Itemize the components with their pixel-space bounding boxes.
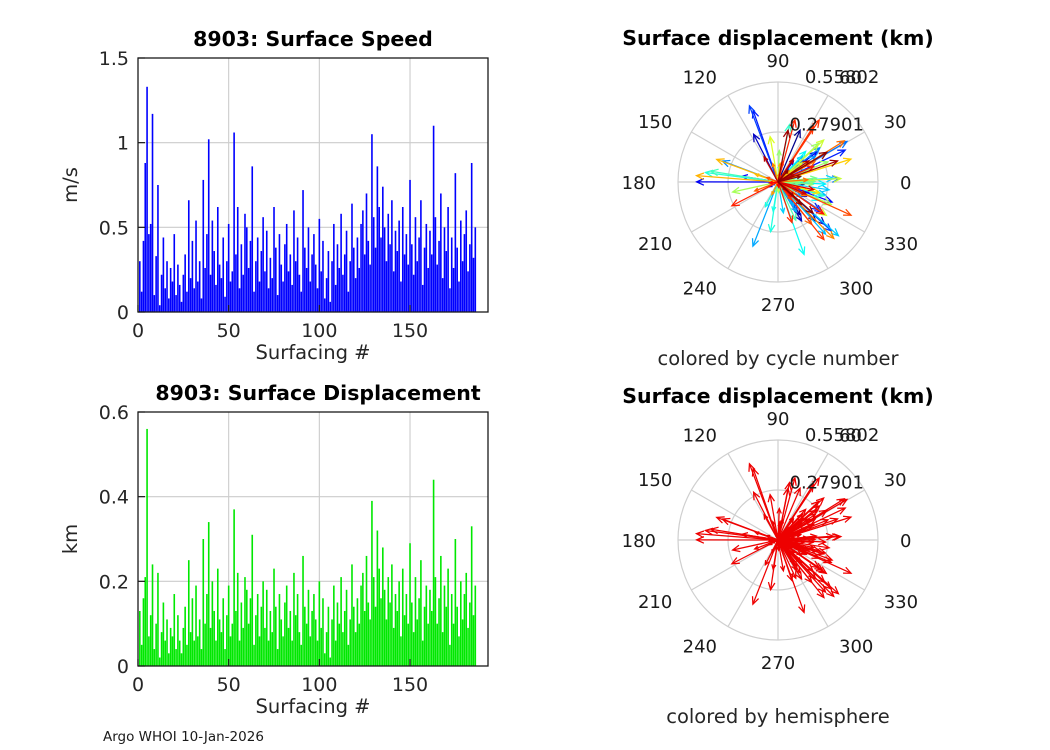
disp-xtick-labels: 050100150: [132, 674, 428, 696]
bar: [222, 598, 224, 666]
bar: [251, 166, 253, 312]
polar-theta-label: 90: [767, 51, 790, 72]
bar: [177, 265, 179, 312]
disp-bars: [139, 429, 476, 666]
polar-theta-label: 30: [884, 470, 907, 491]
bar: [146, 429, 148, 666]
bar: [440, 193, 442, 312]
polar-theta-label: 270: [761, 295, 795, 316]
bar: [175, 649, 177, 666]
bar: [184, 254, 186, 312]
bar: [449, 288, 451, 312]
bar: [291, 285, 293, 312]
bar: [398, 221, 400, 312]
bar: [351, 564, 353, 666]
bar: [340, 214, 342, 312]
bar: [270, 258, 272, 312]
bar: [311, 611, 313, 666]
bar: [391, 564, 393, 666]
bar: [416, 261, 418, 312]
bar: [172, 282, 174, 312]
bar: [311, 254, 313, 312]
polar-hemi-r-labels: 0.279010.55802: [790, 425, 880, 494]
bar: [248, 268, 250, 312]
bar: [422, 285, 424, 312]
bar: [438, 598, 440, 666]
polar-theta-label: 180: [622, 173, 656, 194]
bar: [277, 295, 279, 312]
bar: [315, 265, 317, 312]
bar: [219, 619, 221, 666]
bar: [429, 231, 431, 312]
figure-canvas: 8903: Surface Speed 00.511.5 050100150 S…: [0, 0, 1050, 750]
bar: [222, 237, 224, 312]
bar: [202, 180, 204, 312]
bar: [346, 590, 348, 666]
bar: [420, 200, 422, 312]
polar-cycle-caption: colored by cycle number: [658, 347, 900, 370]
bar: [201, 649, 203, 666]
bar: [331, 261, 333, 312]
bar: [398, 581, 400, 666]
bar: [431, 254, 433, 312]
bar: [175, 295, 177, 312]
polar-theta-label: 0: [900, 173, 911, 194]
panel-title-displacement: 8903: Surface Displacement: [155, 381, 480, 405]
bar: [304, 248, 306, 312]
bar: [455, 173, 457, 312]
bar: [380, 598, 382, 666]
polar-theta-label: 330: [884, 592, 918, 613]
bar: [170, 268, 172, 312]
bar: [257, 594, 259, 666]
figure-footer: Argo WHOI 10-Jan-2026: [103, 729, 264, 745]
bar: [199, 619, 201, 666]
bar: [371, 501, 373, 666]
bar: [155, 256, 157, 312]
bar: [273, 207, 275, 312]
bar: [212, 581, 214, 666]
bar: [384, 227, 386, 312]
bar: [284, 244, 286, 312]
bar: [360, 224, 362, 312]
bar: [317, 288, 319, 312]
bar: [440, 556, 442, 666]
bar: [366, 556, 368, 666]
bar: [290, 611, 292, 666]
bar: [208, 139, 210, 312]
bar: [373, 217, 375, 312]
bar: [427, 268, 429, 312]
bar: [251, 535, 253, 666]
bar: [377, 166, 379, 312]
bar: [344, 254, 346, 312]
bar: [255, 261, 257, 312]
bar: [273, 569, 275, 666]
bar: [337, 603, 339, 667]
bar: [280, 265, 282, 312]
bar: [358, 268, 360, 312]
bar: [306, 268, 308, 312]
speed-bars: [139, 87, 476, 312]
bar: [295, 261, 297, 312]
bar: [319, 581, 321, 666]
bar: [406, 234, 408, 312]
bar: [166, 261, 168, 312]
polar-theta-label: 240: [683, 637, 717, 658]
bar: [183, 628, 185, 666]
bar: [389, 244, 391, 312]
bar: [250, 598, 252, 666]
x-tick-label: 150: [392, 674, 428, 696]
bar: [193, 641, 195, 666]
bar: [215, 285, 217, 312]
bar: [195, 586, 197, 666]
bar: [465, 573, 467, 666]
bar: [197, 636, 199, 666]
bar: [315, 619, 317, 666]
bar: [469, 244, 471, 312]
bar: [451, 594, 453, 666]
bar: [279, 594, 281, 666]
bar: [148, 636, 150, 666]
bar: [436, 624, 438, 666]
bar: [322, 241, 324, 312]
bar: [424, 248, 426, 312]
bar: [391, 200, 393, 312]
bar: [429, 590, 431, 666]
bar: [266, 590, 268, 666]
bar: [371, 134, 373, 312]
bar: [282, 282, 284, 312]
bar: [195, 221, 197, 312]
bar: [168, 653, 170, 666]
bar: [420, 560, 422, 666]
bar: [449, 645, 451, 666]
bar: [286, 586, 288, 666]
bar: [438, 241, 440, 312]
bar: [384, 590, 386, 666]
polar-vector: [749, 106, 778, 182]
bar: [467, 271, 469, 312]
polar-cycle-title: Surface displacement (km): [622, 26, 933, 50]
bar: [458, 282, 460, 312]
bar: [144, 577, 146, 666]
bar: [152, 564, 154, 666]
bar: [224, 649, 226, 666]
bar: [232, 271, 234, 312]
figure-svg: 8903: Surface Speed 00.511.5 050100150 S…: [0, 0, 1050, 750]
speed-xaxis-label: Surfacing #: [256, 341, 371, 364]
bar: [226, 615, 228, 666]
bar: [415, 577, 417, 666]
bar: [435, 217, 437, 312]
bar: [444, 586, 446, 666]
bar: [261, 607, 263, 666]
bar: [275, 248, 277, 312]
polar-theta-label: 300: [839, 637, 873, 658]
bar: [322, 598, 324, 666]
speed-xtick-labels: 050100150: [132, 320, 428, 342]
bar: [248, 624, 250, 666]
bar: [409, 543, 411, 666]
bar: [351, 204, 353, 312]
bar: [378, 569, 380, 666]
bar: [246, 590, 248, 666]
y-tick-label: 0: [117, 302, 129, 324]
bar: [261, 251, 263, 312]
bar: [157, 185, 159, 312]
bar: [241, 244, 243, 312]
bar: [212, 221, 214, 312]
bar: [288, 628, 290, 666]
bar: [364, 611, 366, 666]
bar: [181, 302, 183, 312]
bar: [141, 292, 143, 312]
bar: [184, 607, 186, 666]
bar: [270, 611, 272, 666]
bar: [172, 636, 174, 666]
bar: [308, 590, 310, 666]
bar: [317, 641, 319, 666]
bar: [462, 619, 464, 666]
x-tick-label: 0: [132, 674, 144, 696]
bar: [389, 603, 391, 667]
bar: [411, 603, 413, 667]
bar: [282, 636, 284, 666]
bar: [268, 641, 270, 666]
bar: [166, 619, 168, 666]
polar-radial-label: 0.27901: [790, 472, 864, 493]
polar-theta-label: 120: [683, 425, 717, 446]
bar: [188, 560, 190, 666]
bar: [146, 87, 148, 312]
bar: [244, 577, 246, 666]
bar: [246, 227, 248, 312]
bar: [368, 241, 370, 312]
bar: [143, 241, 145, 312]
panel-surface-displacement: 8903: Surface Displacement 00.20.40.6 05…: [59, 381, 488, 718]
bar: [304, 607, 306, 666]
bar: [241, 603, 243, 667]
bar: [170, 628, 172, 666]
bar: [309, 282, 311, 312]
bar: [339, 268, 341, 312]
disp-ytick-labels: 00.20.40.6: [99, 402, 129, 678]
bar: [358, 624, 360, 666]
bar: [213, 611, 215, 666]
bar: [173, 234, 175, 312]
bar: [475, 586, 477, 666]
bar: [382, 547, 384, 666]
bar: [407, 624, 409, 666]
bar: [183, 275, 185, 312]
bar: [188, 200, 190, 312]
bar: [362, 210, 364, 312]
bar: [164, 641, 166, 666]
bar: [326, 278, 328, 312]
bar: [364, 254, 366, 312]
polar-theta-label: 150: [638, 470, 672, 491]
bar: [393, 271, 395, 312]
bar: [179, 285, 181, 312]
bar: [355, 278, 357, 312]
panel-polar-hemisphere: Surface displacement (km) 03060901201501…: [622, 384, 934, 728]
polar-theta-label: 270: [761, 653, 795, 674]
bar: [143, 598, 145, 666]
bar: [262, 217, 264, 312]
bar: [369, 619, 371, 666]
x-tick-label: 50: [217, 320, 241, 342]
bar: [435, 577, 437, 666]
bar: [375, 607, 377, 666]
bar: [473, 258, 475, 312]
bar: [217, 569, 219, 666]
bar: [402, 569, 404, 666]
bar: [329, 658, 331, 666]
polar-radial-label: 0.55802: [805, 425, 879, 446]
bar: [378, 207, 380, 312]
bar: [413, 632, 415, 666]
bar: [320, 271, 322, 312]
bar: [264, 271, 266, 312]
bar: [415, 217, 417, 312]
bar: [288, 271, 290, 312]
bar: [275, 607, 277, 666]
y-tick-label: 0.2: [99, 571, 129, 593]
bar: [204, 268, 206, 312]
bar: [333, 224, 335, 312]
bar: [335, 285, 337, 312]
bar: [179, 641, 181, 666]
bar: [233, 133, 235, 312]
bar: [395, 594, 397, 666]
bar: [221, 278, 223, 312]
bar: [242, 275, 244, 312]
bar: [150, 224, 152, 312]
bar: [362, 573, 364, 666]
bar: [313, 594, 315, 666]
bar: [192, 241, 194, 312]
bar: [357, 598, 359, 666]
bar: [161, 275, 163, 312]
bar: [471, 163, 473, 312]
bar: [337, 244, 339, 312]
polar-theta-label: 210: [638, 592, 672, 613]
bar: [404, 254, 406, 312]
bar: [206, 594, 208, 666]
polar-theta-label: 90: [767, 409, 790, 430]
y-tick-label: 1.5: [99, 48, 129, 70]
bar: [295, 615, 297, 666]
bar: [262, 581, 264, 666]
bar: [346, 231, 348, 312]
bar: [219, 265, 221, 312]
bar: [328, 607, 330, 666]
bar: [397, 251, 399, 312]
bar: [387, 577, 389, 666]
bar: [228, 224, 230, 312]
bar: [159, 658, 161, 666]
bar: [369, 265, 371, 312]
bar: [177, 615, 179, 666]
bar: [271, 632, 273, 666]
bar: [453, 624, 455, 666]
bar: [475, 227, 477, 312]
bar: [445, 607, 447, 666]
bar: [206, 234, 208, 312]
polar-radial-label: 0.55802: [805, 67, 879, 88]
bar: [326, 632, 328, 666]
disp-yaxis-label: km: [59, 524, 82, 554]
bar: [348, 292, 350, 312]
bar: [208, 522, 210, 666]
bar: [192, 598, 194, 666]
bar: [320, 628, 322, 666]
bar: [404, 615, 406, 666]
bar: [181, 653, 183, 666]
bar: [224, 297, 226, 312]
bar: [235, 611, 237, 666]
bar: [297, 237, 299, 312]
y-tick-label: 1: [117, 133, 129, 155]
bar: [250, 241, 252, 312]
bar: [453, 268, 455, 312]
bar: [380, 237, 382, 312]
bar: [424, 607, 426, 666]
bar: [348, 645, 350, 666]
bar: [377, 531, 379, 666]
bar: [150, 615, 152, 666]
bar: [302, 190, 304, 312]
bar: [313, 234, 315, 312]
bar: [221, 632, 223, 666]
polar-cycle-r-labels: 0.279010.55802: [790, 67, 880, 135]
bar: [333, 586, 335, 666]
bar: [190, 632, 192, 666]
bar: [155, 624, 157, 666]
bar: [210, 275, 212, 312]
bar: [386, 261, 388, 312]
bar: [386, 619, 388, 666]
bar: [300, 645, 302, 666]
bar: [373, 577, 375, 666]
bar: [442, 278, 444, 312]
bar: [186, 645, 188, 666]
bar: [239, 288, 241, 312]
bar: [268, 288, 270, 312]
bar: [335, 641, 337, 666]
bar: [406, 594, 408, 666]
bar: [302, 556, 304, 666]
bar: [299, 275, 301, 312]
bar: [163, 237, 165, 312]
y-tick-label: 0.5: [99, 217, 129, 239]
bar: [413, 275, 415, 312]
bar: [422, 641, 424, 666]
bar: [444, 227, 446, 312]
bar: [235, 254, 237, 312]
bar: [395, 231, 397, 312]
bar: [329, 302, 331, 312]
bar: [328, 251, 330, 312]
bar: [471, 526, 473, 666]
bar: [237, 207, 239, 312]
bar: [239, 641, 241, 666]
panel-polar-cycle: Surface displacement (km) 03060901201501…: [622, 26, 934, 370]
bar: [154, 649, 156, 666]
bar: [259, 636, 261, 666]
